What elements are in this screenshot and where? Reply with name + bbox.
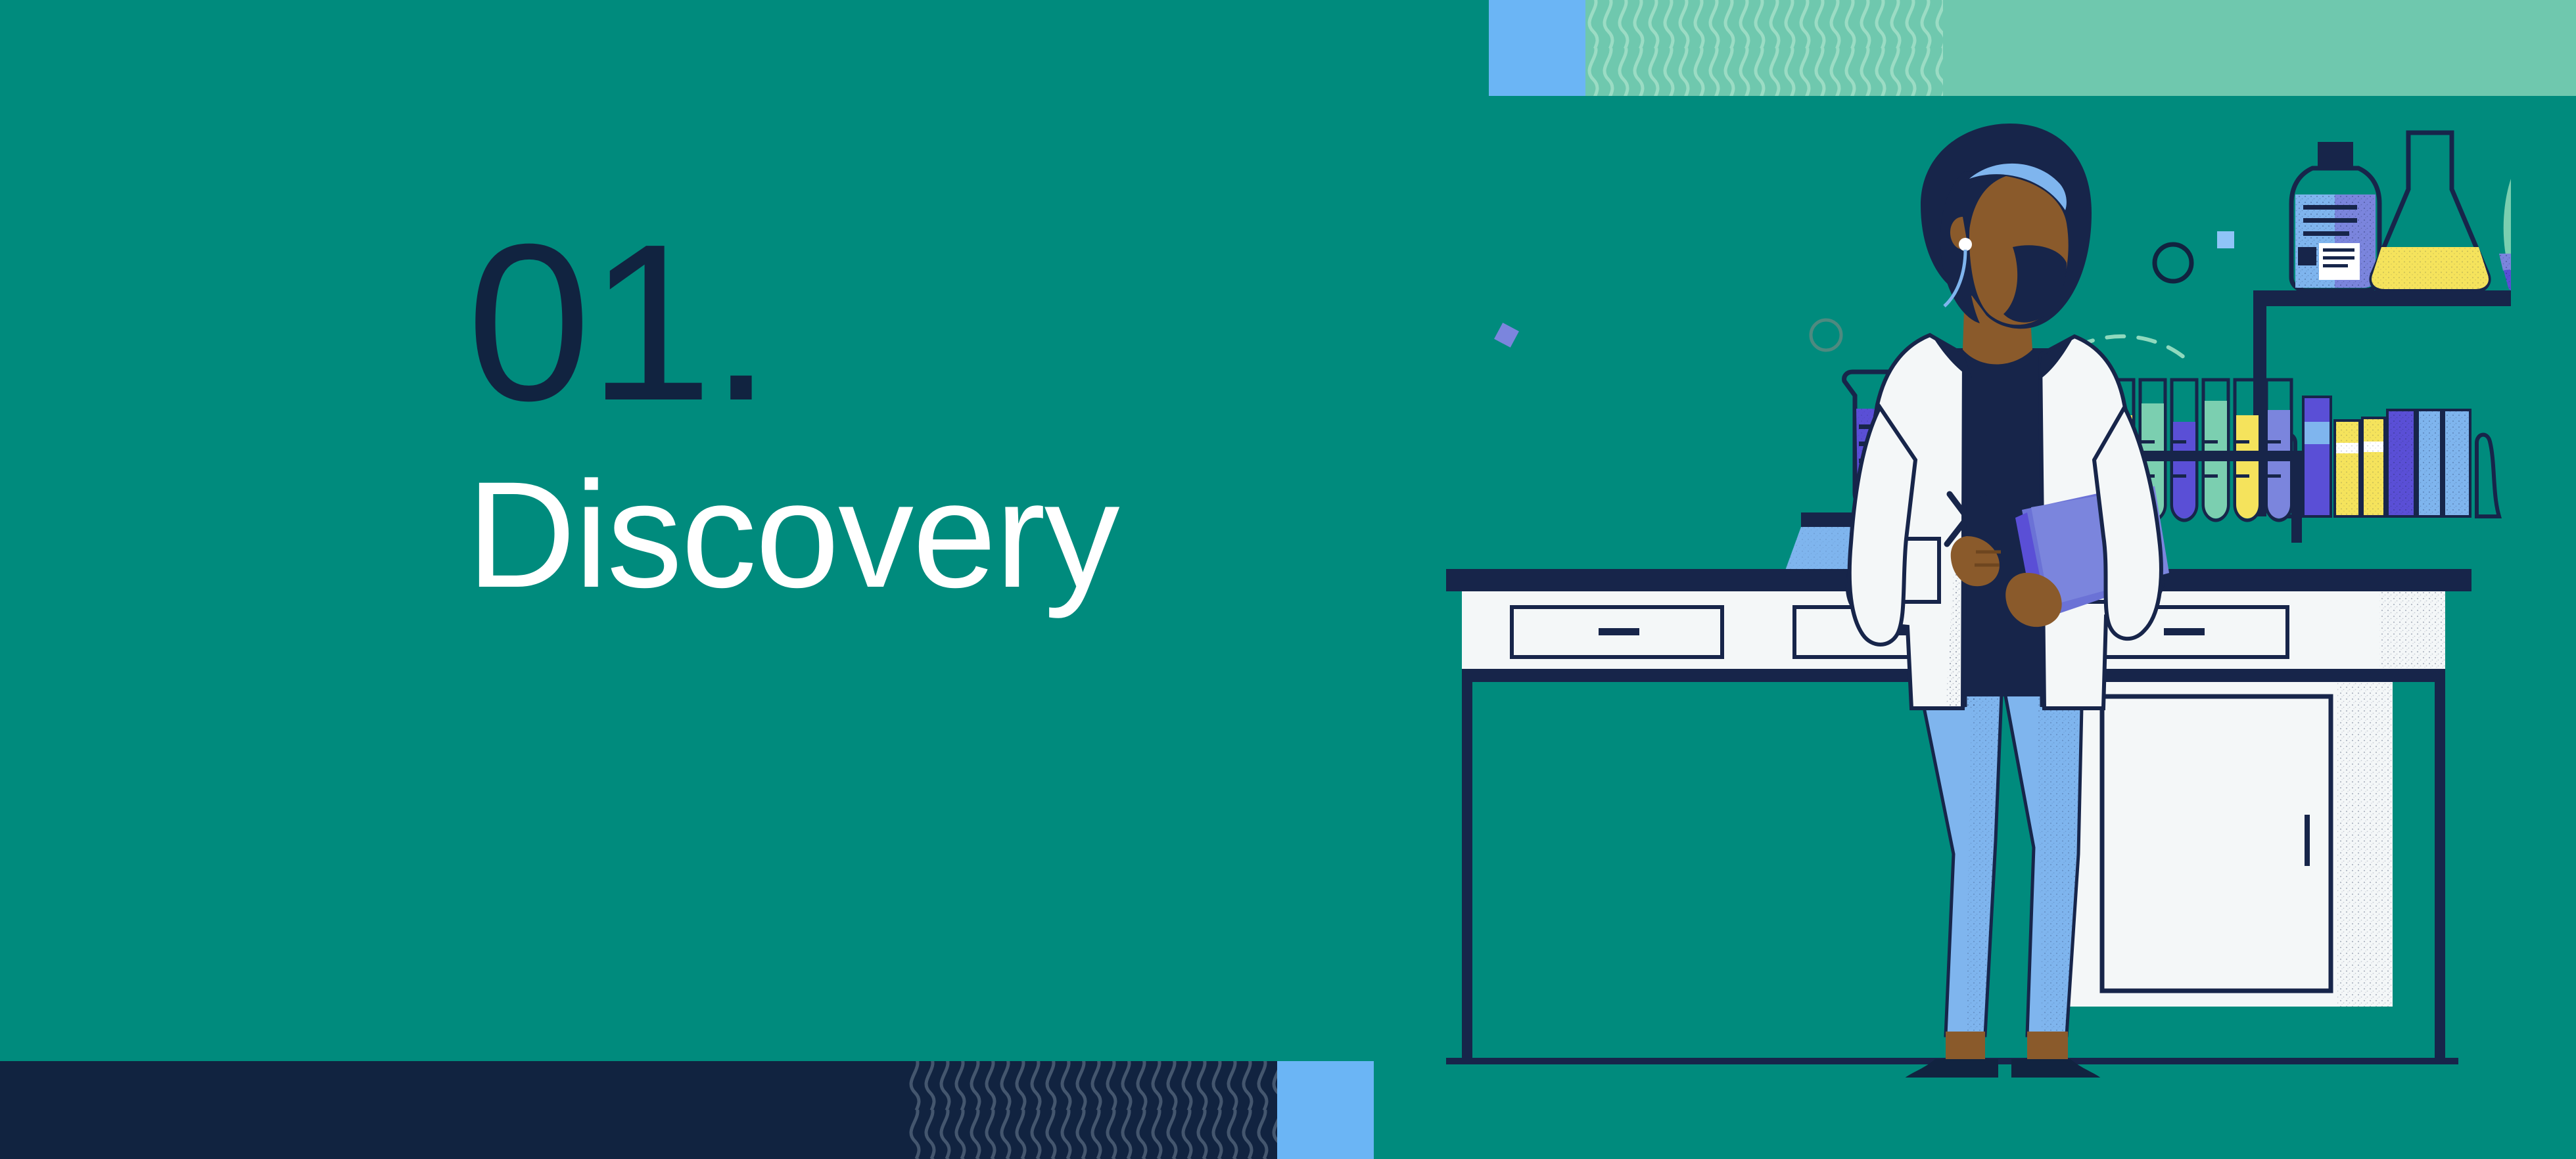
book-item	[2303, 397, 2331, 516]
rack-right-leg	[2291, 451, 2302, 543]
bottom-band-navy-block	[0, 1061, 907, 1159]
bottom-decorative-band	[0, 1061, 1374, 1159]
page-title: 01. Discovery	[467, 217, 1321, 614]
wave-stripes-mint-svg	[1585, 0, 1943, 96]
bench-apron-speckle	[2379, 591, 2445, 670]
book-item	[2387, 410, 2415, 516]
bottom-band-blue-block	[1277, 1061, 1374, 1159]
pants	[1918, 678, 2082, 1035]
bench-left-overhang	[1446, 569, 1480, 591]
section-number: 01.	[467, 217, 1321, 429]
section-label: Discovery	[467, 455, 1321, 614]
laboratory-illustration	[1446, 118, 2511, 1078]
navy-circle-outline-icon	[2155, 244, 2191, 281]
shelf-plank	[2253, 290, 2511, 306]
top-decorative-band	[1489, 0, 2576, 96]
reagent-bottle-icon	[2291, 142, 2379, 290]
top-band-solid-mint	[1943, 0, 2576, 96]
book-row	[2273, 397, 2499, 516]
cabinet-speckle	[2337, 682, 2393, 1007]
top-band-blue-block	[1489, 0, 1585, 96]
bench-leg-left	[1462, 682, 1472, 1063]
potted-plant-icon	[2499, 152, 2511, 292]
book-item	[2362, 418, 2385, 516]
slide-root: 01. Discovery	[0, 0, 2576, 1159]
book-item	[2418, 410, 2441, 516]
erlenmeyer-flask-icon	[2372, 133, 2489, 290]
drawer-handle	[1599, 628, 1639, 635]
top-band-wave-pattern	[1585, 0, 1943, 96]
cabinet-door-handle	[2305, 815, 2310, 866]
book-item	[2444, 410, 2470, 516]
wave-stripes-navy-svg	[907, 1061, 1277, 1159]
blue-square-icon	[2217, 231, 2234, 248]
book-item	[2335, 420, 2360, 516]
test-tube	[2266, 380, 2291, 520]
head	[1921, 124, 2092, 329]
test-tube	[2172, 380, 2197, 520]
laboratory-illustration-svg	[1446, 118, 2511, 1078]
test-tube	[2203, 380, 2228, 520]
earring	[1959, 238, 1972, 251]
bookend-right	[2477, 435, 2499, 516]
drawer-handle	[2164, 628, 2205, 635]
bench-leg-right	[2435, 682, 2445, 1063]
bottom-band-wave-pattern	[907, 1061, 1277, 1159]
purple-diamond-icon	[1494, 323, 1519, 348]
grey-circle-outline-icon	[1811, 320, 1841, 350]
